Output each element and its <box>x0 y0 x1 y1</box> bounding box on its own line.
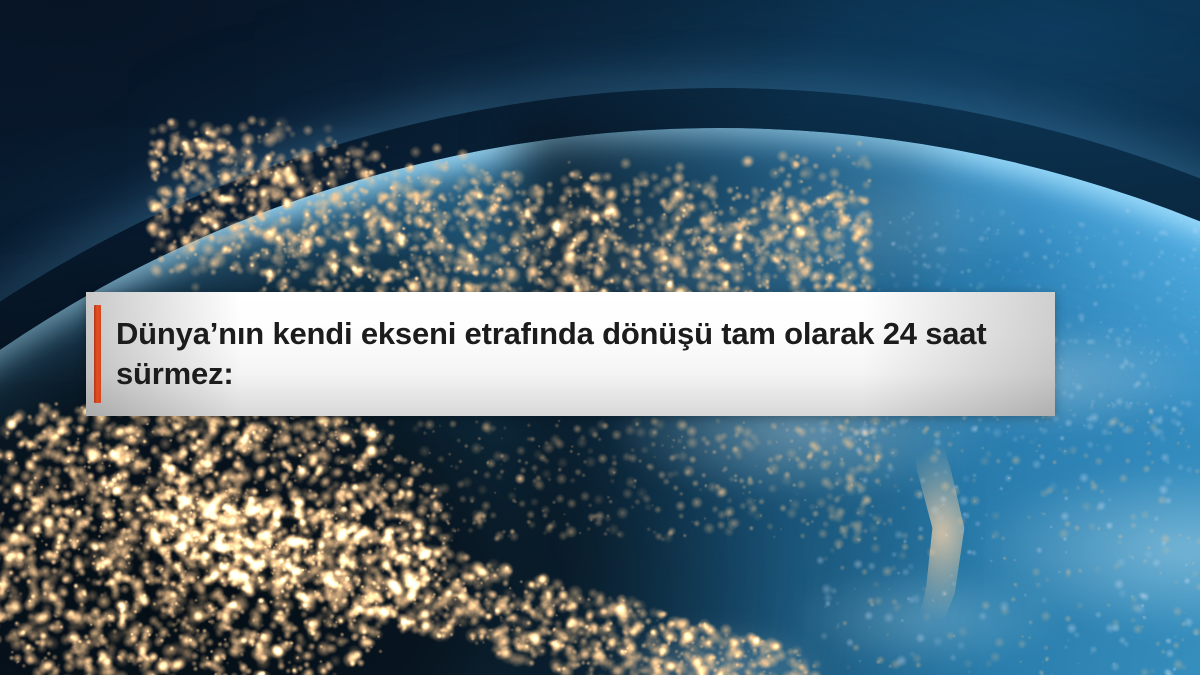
accent-bar-icon <box>94 305 101 403</box>
screenshot-root: Dünya’nın kendi ekseni etrafında dönüşü … <box>0 0 1200 675</box>
caption-box: Dünya’nın kendi ekseni etrafında dönüşü … <box>86 292 1055 416</box>
caption-text: Dünya’nın kendi ekseni etrafında dönüşü … <box>116 314 1033 395</box>
